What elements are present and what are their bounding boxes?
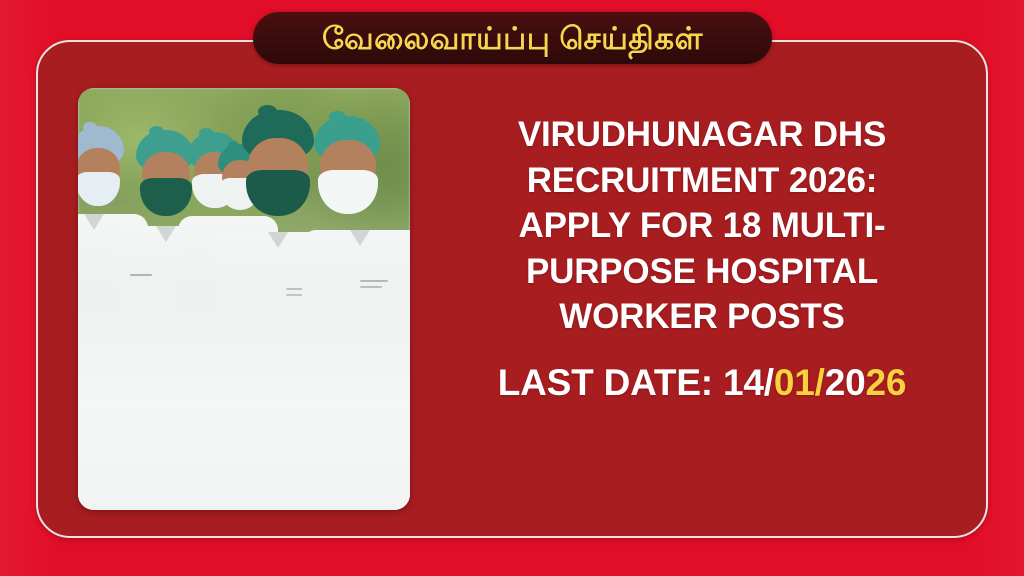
- last-date-month: 01/: [774, 362, 825, 403]
- photo-content: [78, 88, 410, 510]
- headline-line-4: PURPOSE HOSPITAL: [432, 249, 972, 295]
- header-banner-pill: வேலைவாய்ப்பு செய்திகள்: [253, 12, 772, 64]
- last-date-line: LAST DATE: 14/01/2026: [432, 362, 972, 404]
- headline-line-3: APPLY FOR 18 MULTI-: [432, 203, 972, 249]
- last-date-year-a: 20: [825, 362, 866, 403]
- last-date-year-b: 26: [865, 362, 906, 403]
- last-date-label: LAST DATE:: [498, 362, 723, 403]
- headline-line-2: RECRUITMENT 2026:: [432, 158, 972, 204]
- headline-line-1: VIRUDHUNAGAR DHS: [432, 112, 972, 158]
- poster-canvas: வேலைவாய்ப்பு செய்திகள்: [0, 0, 1024, 576]
- text-block: VIRUDHUNAGAR DHS RECRUITMENT 2026: APPLY…: [432, 112, 972, 404]
- header-banner-text: வேலைவாய்ப்பு செய்திகள்: [322, 23, 703, 54]
- headline-line-5: WORKER POSTS: [432, 294, 972, 340]
- headline: VIRUDHUNAGAR DHS RECRUITMENT 2026: APPLY…: [432, 112, 972, 340]
- last-date-day: 14/: [723, 362, 774, 403]
- photo-foreground-haze: [78, 265, 410, 510]
- nurses-photo: [78, 88, 410, 510]
